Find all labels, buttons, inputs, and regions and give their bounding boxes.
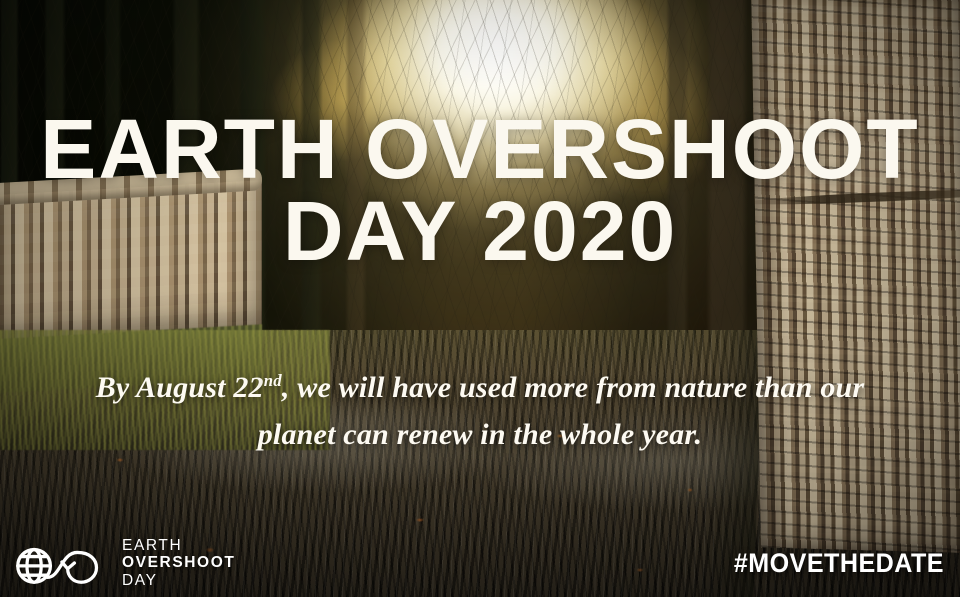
globe-infinity-loop-icon xyxy=(12,539,108,587)
logo-wordmark: EARTH OVERSHOOT DAY xyxy=(122,537,235,590)
earth-overshoot-day-logo[interactable]: EARTH OVERSHOOT DAY xyxy=(12,537,235,590)
headline-line-2: DAY 2020 xyxy=(0,190,960,272)
subtitle-after-date: , we will have used more from nature tha… xyxy=(258,371,865,451)
subtitle-text: By August 22nd, we will have used more f… xyxy=(60,364,900,458)
date-ordinal-suffix: nd xyxy=(264,371,282,390)
logo-word-earth: EARTH xyxy=(122,537,235,555)
page-title: EARTH OVERSHOOT DAY 2020 xyxy=(0,108,960,273)
logo-word-overshoot: OVERSHOOT xyxy=(122,554,235,572)
headline-line-1: EARTH OVERSHOOT xyxy=(0,108,960,190)
campaign-hashtag[interactable]: #MOVETHEDATE xyxy=(734,548,944,579)
poster-content: EARTH OVERSHOOT DAY 2020 By August 22nd,… xyxy=(0,0,960,597)
earth-overshoot-day-poster: EARTH OVERSHOOT DAY 2020 By August 22nd,… xyxy=(0,0,960,597)
subtitle-before-date: By August 22 xyxy=(96,371,264,404)
logo-word-day: DAY xyxy=(122,572,235,590)
